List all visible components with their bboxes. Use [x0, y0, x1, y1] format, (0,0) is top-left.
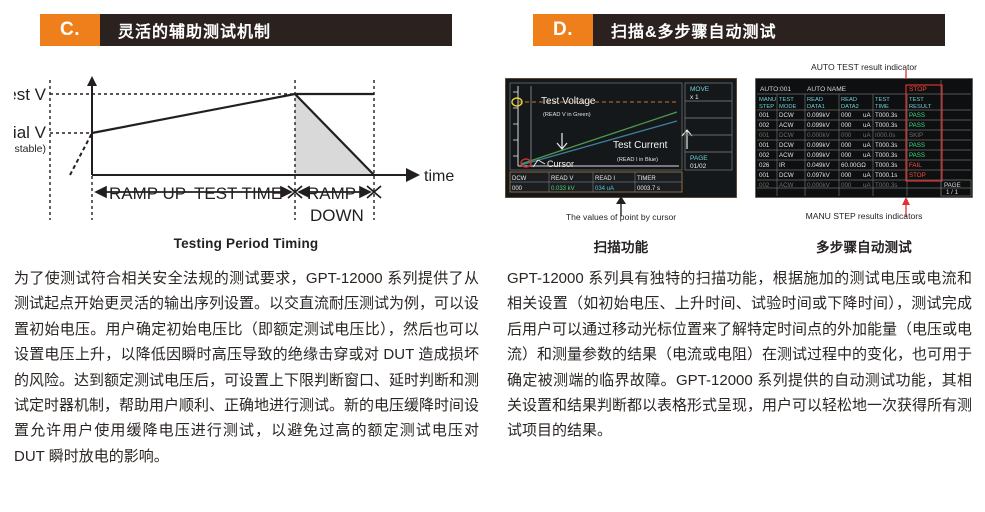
table-cell: 000: [841, 122, 852, 129]
scan-softkey-move-value: x 1: [690, 94, 699, 101]
table-cell: DCW: [779, 142, 794, 149]
table-cell: uA: [863, 122, 871, 129]
svg-text:DATA1: DATA1: [807, 104, 825, 110]
scan-status-mode-value: 000: [512, 186, 523, 192]
table-cell: T000.3s: [875, 112, 897, 119]
svg-text:READ: READ: [807, 97, 823, 103]
table-cell: T000.3s: [875, 162, 897, 169]
table-cell: uA: [863, 132, 871, 139]
table-cell: 000: [841, 182, 852, 189]
table-cell: 0.097kV: [807, 172, 831, 179]
table-page-value: 1 / 1: [946, 189, 959, 196]
table-cell: 001: [759, 132, 770, 139]
timing-chart-figure: Test V Initial V (Adjustable) time RAMP …: [14, 72, 479, 232]
svg-text:RESULT: RESULT: [909, 104, 932, 110]
auto-test-screenshot: AUTO:001 AUTO NAME STOP: [755, 78, 973, 198]
table-cell: uA: [863, 152, 871, 159]
scan-label-test-voltage: Test Voltage: [541, 96, 596, 107]
scan-status-readv-label: READ V: [551, 176, 573, 182]
section-c-header: C. 灵活的辅助测试机制: [40, 14, 452, 46]
table-cell: 0.000kV: [807, 182, 831, 189]
table-cell: STOP: [909, 172, 926, 179]
label-adjustable: (Adjustable): [14, 143, 46, 155]
table-cell: uA: [863, 112, 871, 119]
table-cell: 000: [841, 112, 852, 119]
scan-softkey-page-label: PAGE: [690, 155, 708, 162]
table-cell: T000.3s: [875, 182, 897, 189]
table-cell: uA: [863, 172, 871, 179]
section-c-letter: C.: [40, 14, 100, 46]
table-cell: ACW: [779, 152, 794, 159]
table-cell: 0.099kV: [807, 122, 831, 129]
table-cell: uA: [863, 182, 871, 189]
scan-softkey-move-label: MOVE: [690, 86, 710, 93]
table-cell: 000: [841, 152, 852, 159]
table-cell: 000: [841, 172, 852, 179]
table-cell: ACW: [779, 122, 794, 129]
label-ramp-down-2: DOWN: [310, 206, 364, 225]
scan-status-timer-label: TIMER: [637, 176, 656, 182]
svg-text:MANU: MANU: [759, 97, 776, 103]
scan-status-mode: DCW: [512, 176, 527, 182]
scan-status-readi-label: READ I: [595, 176, 615, 182]
svg-text:MODE: MODE: [779, 104, 797, 110]
auto-name: AUTO NAME: [807, 86, 847, 93]
table-cell: PASS: [909, 142, 925, 149]
table-cell: T000.1s: [875, 172, 897, 179]
table-cell: 000: [841, 132, 852, 139]
table-cell: DCW: [779, 112, 794, 119]
table-cell: 002: [759, 122, 770, 129]
svg-text:TEST: TEST: [875, 97, 890, 103]
svg-text:TEST: TEST: [909, 97, 924, 103]
table-cell: FAIL: [909, 162, 922, 169]
svg-text:TEST: TEST: [779, 97, 794, 103]
label-test-v: Test V: [14, 85, 47, 104]
table-cell: 0.049kV: [807, 162, 831, 169]
svg-text:TIME: TIME: [875, 104, 889, 110]
table-cell: I000.0s: [875, 132, 895, 139]
table-cell: 0.099kV: [807, 142, 831, 149]
body-text-right: GPT-12000 系列具有独特的扫描功能，根据施加的测试电压或电流和相关设置（…: [507, 266, 972, 444]
scan-annotation-label: The values of point by cursor: [505, 212, 737, 222]
table-cell: 60.00GΩ: [841, 162, 866, 169]
caption-testing-period-timing: Testing Period Timing: [0, 236, 492, 251]
caption-multistep-auto-test: 多步骤自动测试: [755, 236, 973, 256]
table-cell: 0.099kV: [807, 152, 831, 159]
table-cell: PASS: [909, 112, 925, 119]
label-ramp-down-1: RAMP: [307, 184, 356, 203]
section-d-header: D. 扫描&多步骤自动测试: [533, 14, 945, 46]
table-cell: 001: [759, 172, 770, 179]
table-cell: T000.3s: [875, 142, 897, 149]
scan-screenshot: Test Voltage (READ V in Green) Test Curr…: [505, 78, 737, 198]
table-cell: 000: [841, 142, 852, 149]
auto-test-svg: AUTO:001 AUTO NAME STOP: [755, 78, 973, 198]
scan-label-test-current: Test Current: [613, 140, 668, 151]
section-d: D. 扫描&多步骤自动测试: [493, 0, 985, 512]
svg-text:DATA2: DATA2: [841, 104, 859, 110]
section-d-title: 扫描&多步骤自动测试: [593, 14, 945, 46]
table-cell: T000.3s: [875, 152, 897, 159]
label-time-axis: time: [424, 168, 454, 185]
section-c-title: 灵活的辅助测试机制: [100, 14, 452, 46]
table-cell: T000.3s: [875, 122, 897, 129]
page-root: C. 灵活的辅助测试机制: [0, 0, 985, 512]
timing-chart-svg: Test V Initial V (Adjustable) time RAMP …: [14, 72, 479, 232]
table-cell: DCW: [779, 172, 794, 179]
table-cell: 001: [759, 142, 770, 149]
table-cell: 002: [759, 182, 770, 189]
table-page-label: PAGE: [944, 182, 961, 189]
table-cell: PASS: [909, 122, 925, 129]
scan-screenshot-svg: Test Voltage (READ V in Green) Test Curr…: [505, 78, 737, 198]
table-annotation-top-arrow: [755, 70, 973, 80]
label-ramp-up: RAMP UP: [109, 184, 186, 203]
scan-status-readi-value: 034 uA: [595, 186, 614, 192]
table-annotation-bottom: MANU STEP results indicators: [755, 211, 973, 221]
scan-sublabel-read-i: (READ I in Blue): [617, 157, 658, 163]
table-cell: uA: [863, 142, 871, 149]
table-cell: 001: [759, 112, 770, 119]
table-cell: 0.099kV: [807, 112, 831, 119]
label-initial-v: Initial V: [14, 123, 47, 142]
auto-no: AUTO:001: [760, 86, 791, 93]
table-cell: 002: [759, 152, 770, 159]
svg-text:READ: READ: [841, 97, 857, 103]
scan-status-timer-value: 0003.7 s: [637, 186, 660, 192]
table-cell: 0.000kV: [807, 132, 831, 139]
scan-sublabel-read-v: (READ V in Green): [543, 112, 591, 118]
svg-text:STEP: STEP: [759, 104, 774, 110]
scan-softkey-page-value: 01/02: [690, 163, 707, 170]
section-d-letter: D.: [533, 14, 593, 46]
caption-scan-function: 扫描功能: [505, 236, 737, 256]
table-cell: ACW: [779, 182, 794, 189]
table-cell: IR: [779, 162, 786, 169]
label-test-time: TEST TIME: [194, 184, 282, 203]
section-c: C. 灵活的辅助测试机制: [0, 0, 492, 512]
scan-label-cursor: Cursor: [547, 159, 574, 169]
table-cell: 026: [759, 162, 770, 169]
scan-status-readv-value: 0.033 kV: [551, 186, 575, 192]
auto-result-indicator: STOP: [909, 86, 927, 93]
table-cell: PASS: [909, 152, 925, 159]
body-text-left: 为了使测试符合相关安全法规的测试要求，GPT-12000 系列提供了从测试起点开…: [14, 266, 479, 469]
table-cell: DCW: [779, 132, 794, 139]
table-cell: SKIP: [909, 132, 923, 139]
